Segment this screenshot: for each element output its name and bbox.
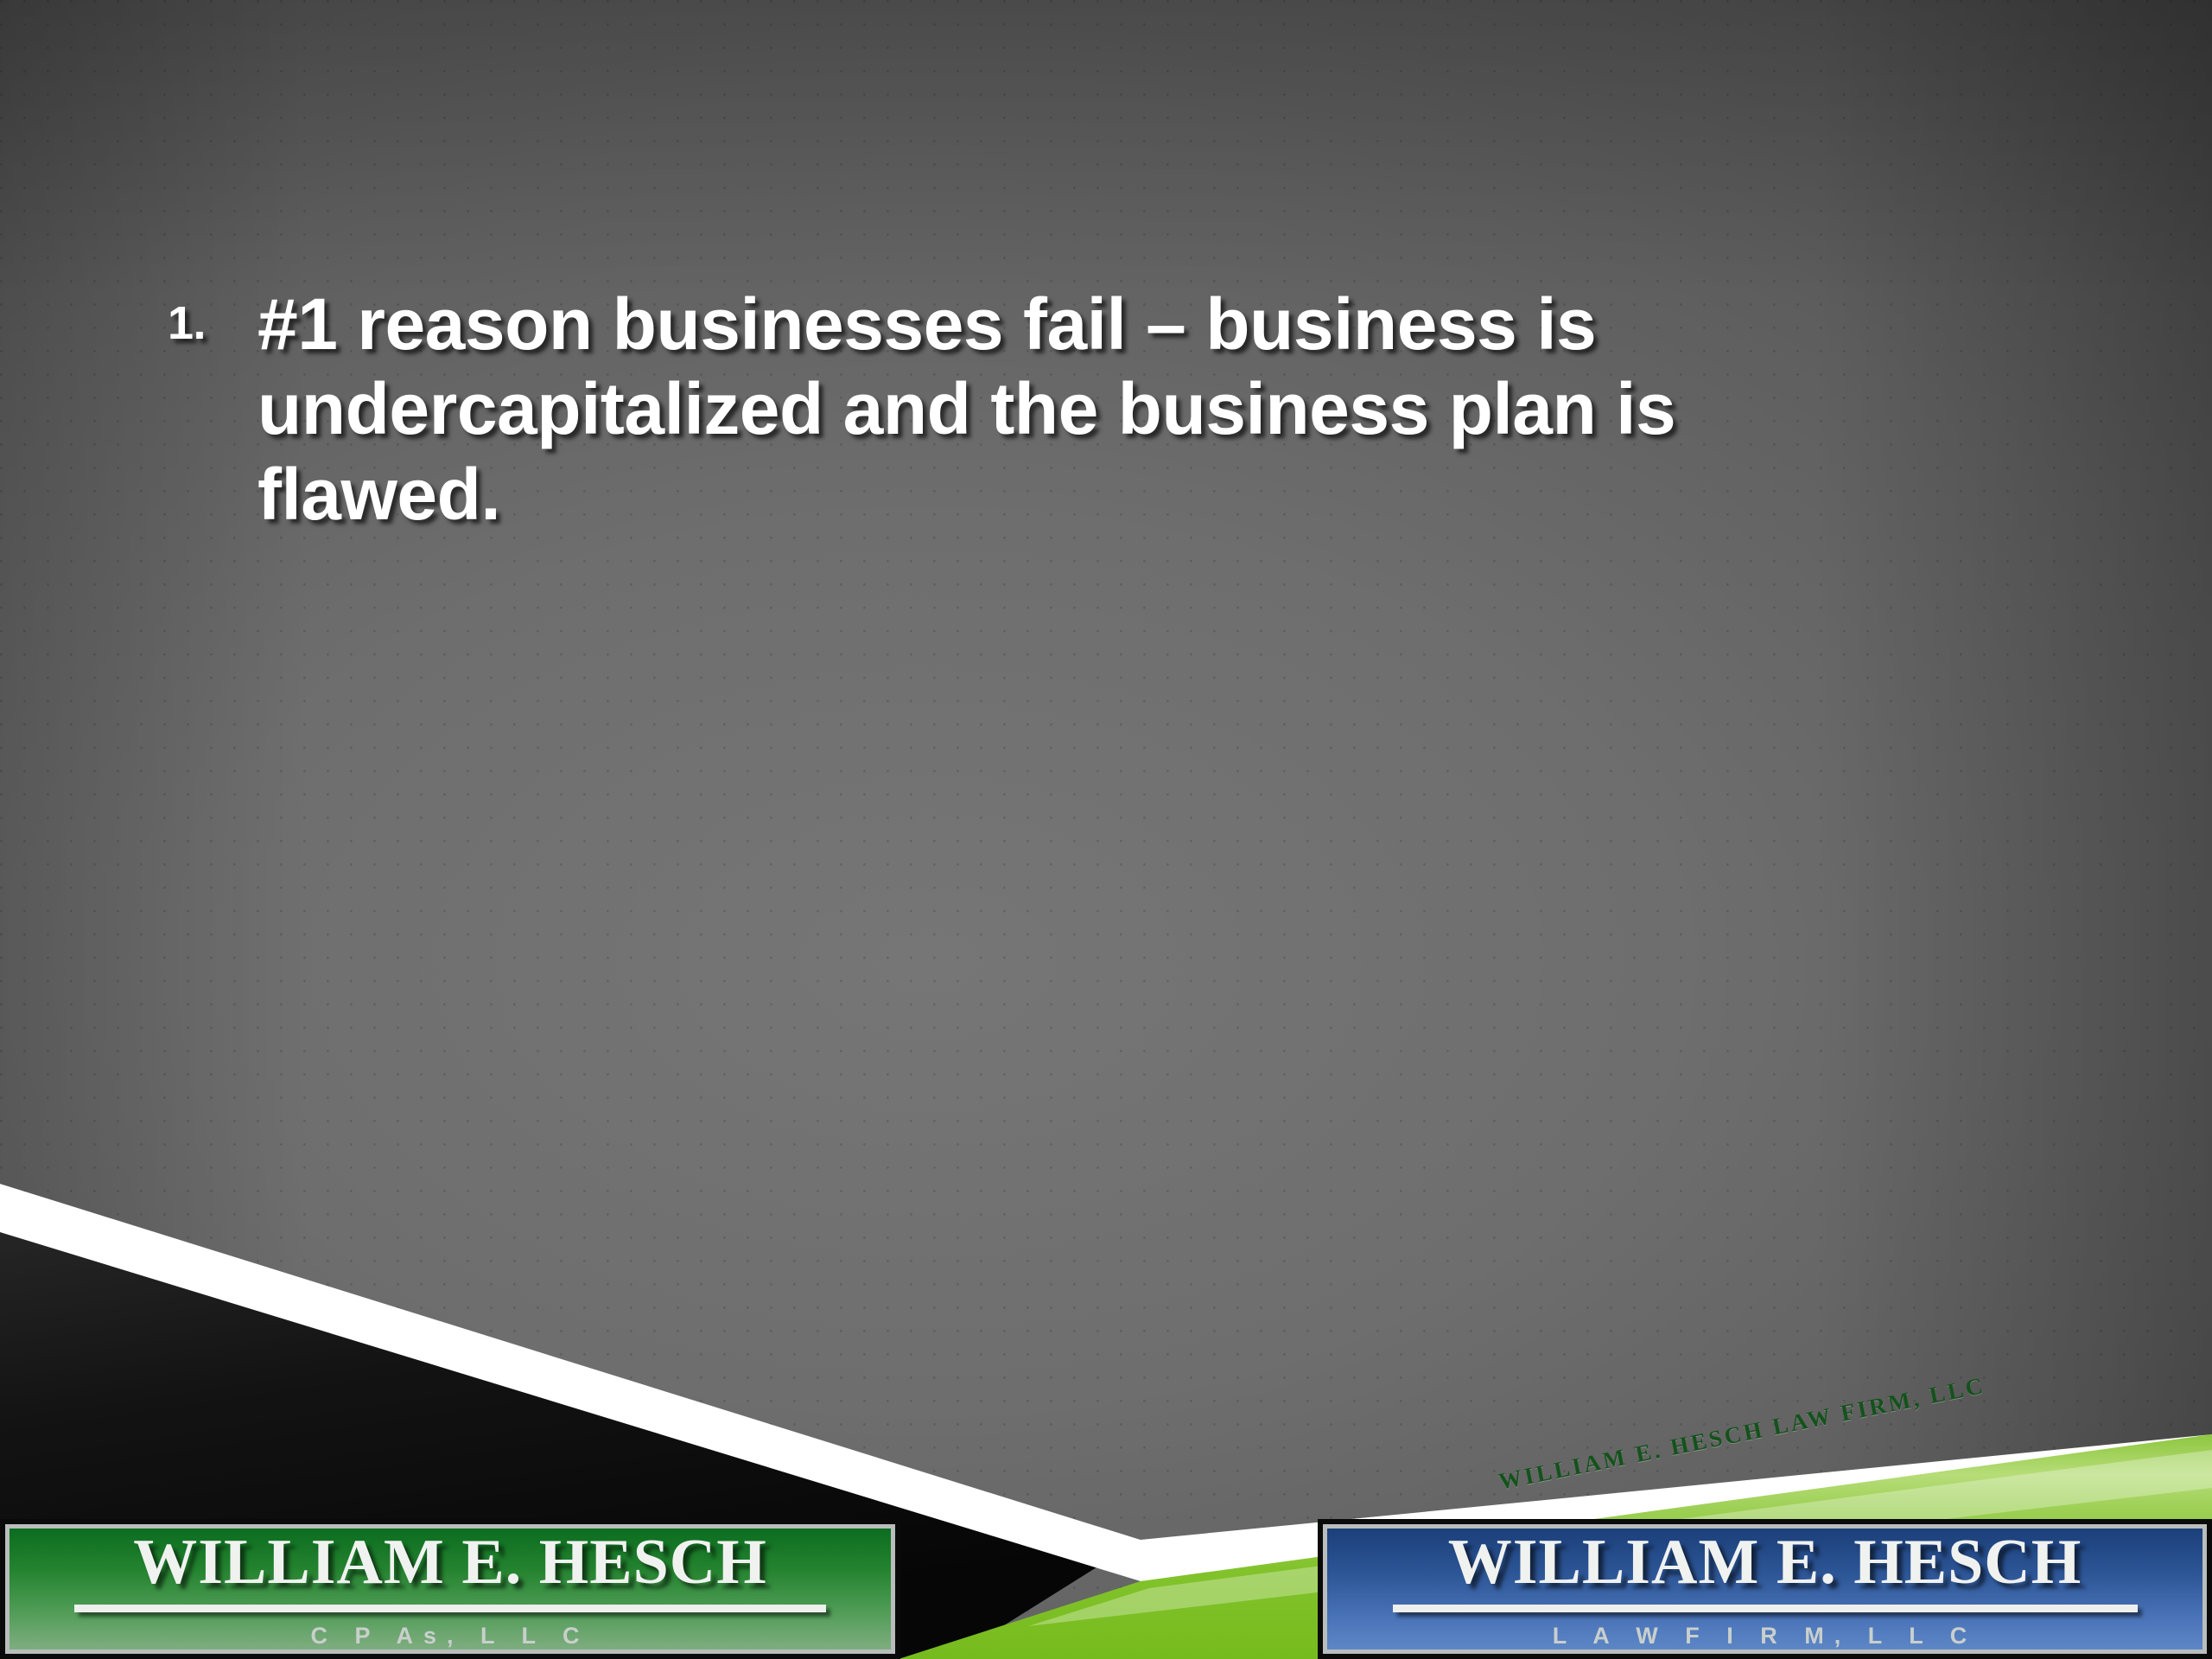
logo-cpas-rule [74,1605,826,1612]
logo-law-panel: WILLIAM E. HESCH L A W F I R M, L L C [1323,1524,2207,1654]
presentation-slide: 1. #1 reason businesses fail – business … [0,0,2212,1659]
logo-hesch-cpas[interactable]: WILLIAM E. HESCH C P As, L L C [0,1519,900,1659]
logo-hesch-law-firm[interactable]: WILLIAM E. HESCH L A W F I R M, L L C [1318,1519,2212,1659]
list-item: 1. #1 reason businesses fail – business … [157,282,1799,537]
logo-cpas-panel: WILLIAM E. HESCH C P As, L L C [5,1524,895,1654]
logo-law-name: WILLIAM E. HESCH [1448,1530,2082,1594]
list-item-text: #1 reason businesses fail – business is … [257,282,1799,537]
slide-body-text: 1. #1 reason businesses fail – business … [157,282,1799,537]
logo-law-rule [1393,1605,2138,1612]
logo-cpas-name: WILLIAM E. HESCH [133,1530,767,1594]
list-item-marker: 1. [157,282,257,365]
logo-cpas-subtitle: C P As, L L C [310,1624,589,1648]
logo-law-subtitle: L A W F I R M, L L C [1553,1624,1978,1648]
